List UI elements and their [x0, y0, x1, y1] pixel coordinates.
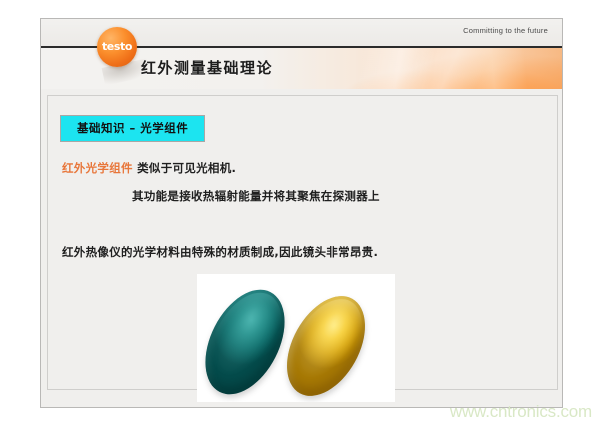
- section-subtitle-text: 基础知识 – 光学组件: [77, 121, 188, 135]
- body-line-2: 其功能是接收热辐射能量并将其聚焦在探测器上: [132, 188, 380, 204]
- slide-title: 红外测量基础理论: [141, 57, 273, 78]
- slide-body-panel: 基础知识 – 光学组件 红外光学组件 类似于可见光相机. 其功能是接收热辐射能量…: [47, 95, 558, 390]
- presentation-slide: Committing to the future testo 红外测量基础理论 …: [40, 18, 563, 408]
- company-tagline: Committing to the future: [463, 26, 548, 35]
- testo-logo-text: testo: [97, 40, 137, 53]
- site-watermark: www.cntronics.com: [450, 402, 592, 422]
- body-line-3: 红外热像仪的光学材料由特殊的材质制成,因此镜头非常昂贵.: [62, 244, 378, 260]
- body-line-1-rest: 类似于可见光相机.: [133, 161, 236, 175]
- slide-header: Committing to the future testo: [41, 19, 562, 91]
- teal-lens-highlight: [197, 281, 297, 402]
- teal-lens-shape: [197, 277, 301, 402]
- lens-illustration-image: [197, 274, 395, 402]
- section-subtitle-box: 基础知识 – 光学组件: [60, 115, 205, 142]
- gold-lens-shape: [271, 283, 381, 402]
- gold-lens-highlight: [275, 287, 377, 402]
- body-line-1: 红外光学组件 类似于可见光相机.: [62, 160, 236, 176]
- testo-logo-icon: testo: [97, 27, 137, 67]
- body-line-1-accent: 红外光学组件: [62, 161, 133, 175]
